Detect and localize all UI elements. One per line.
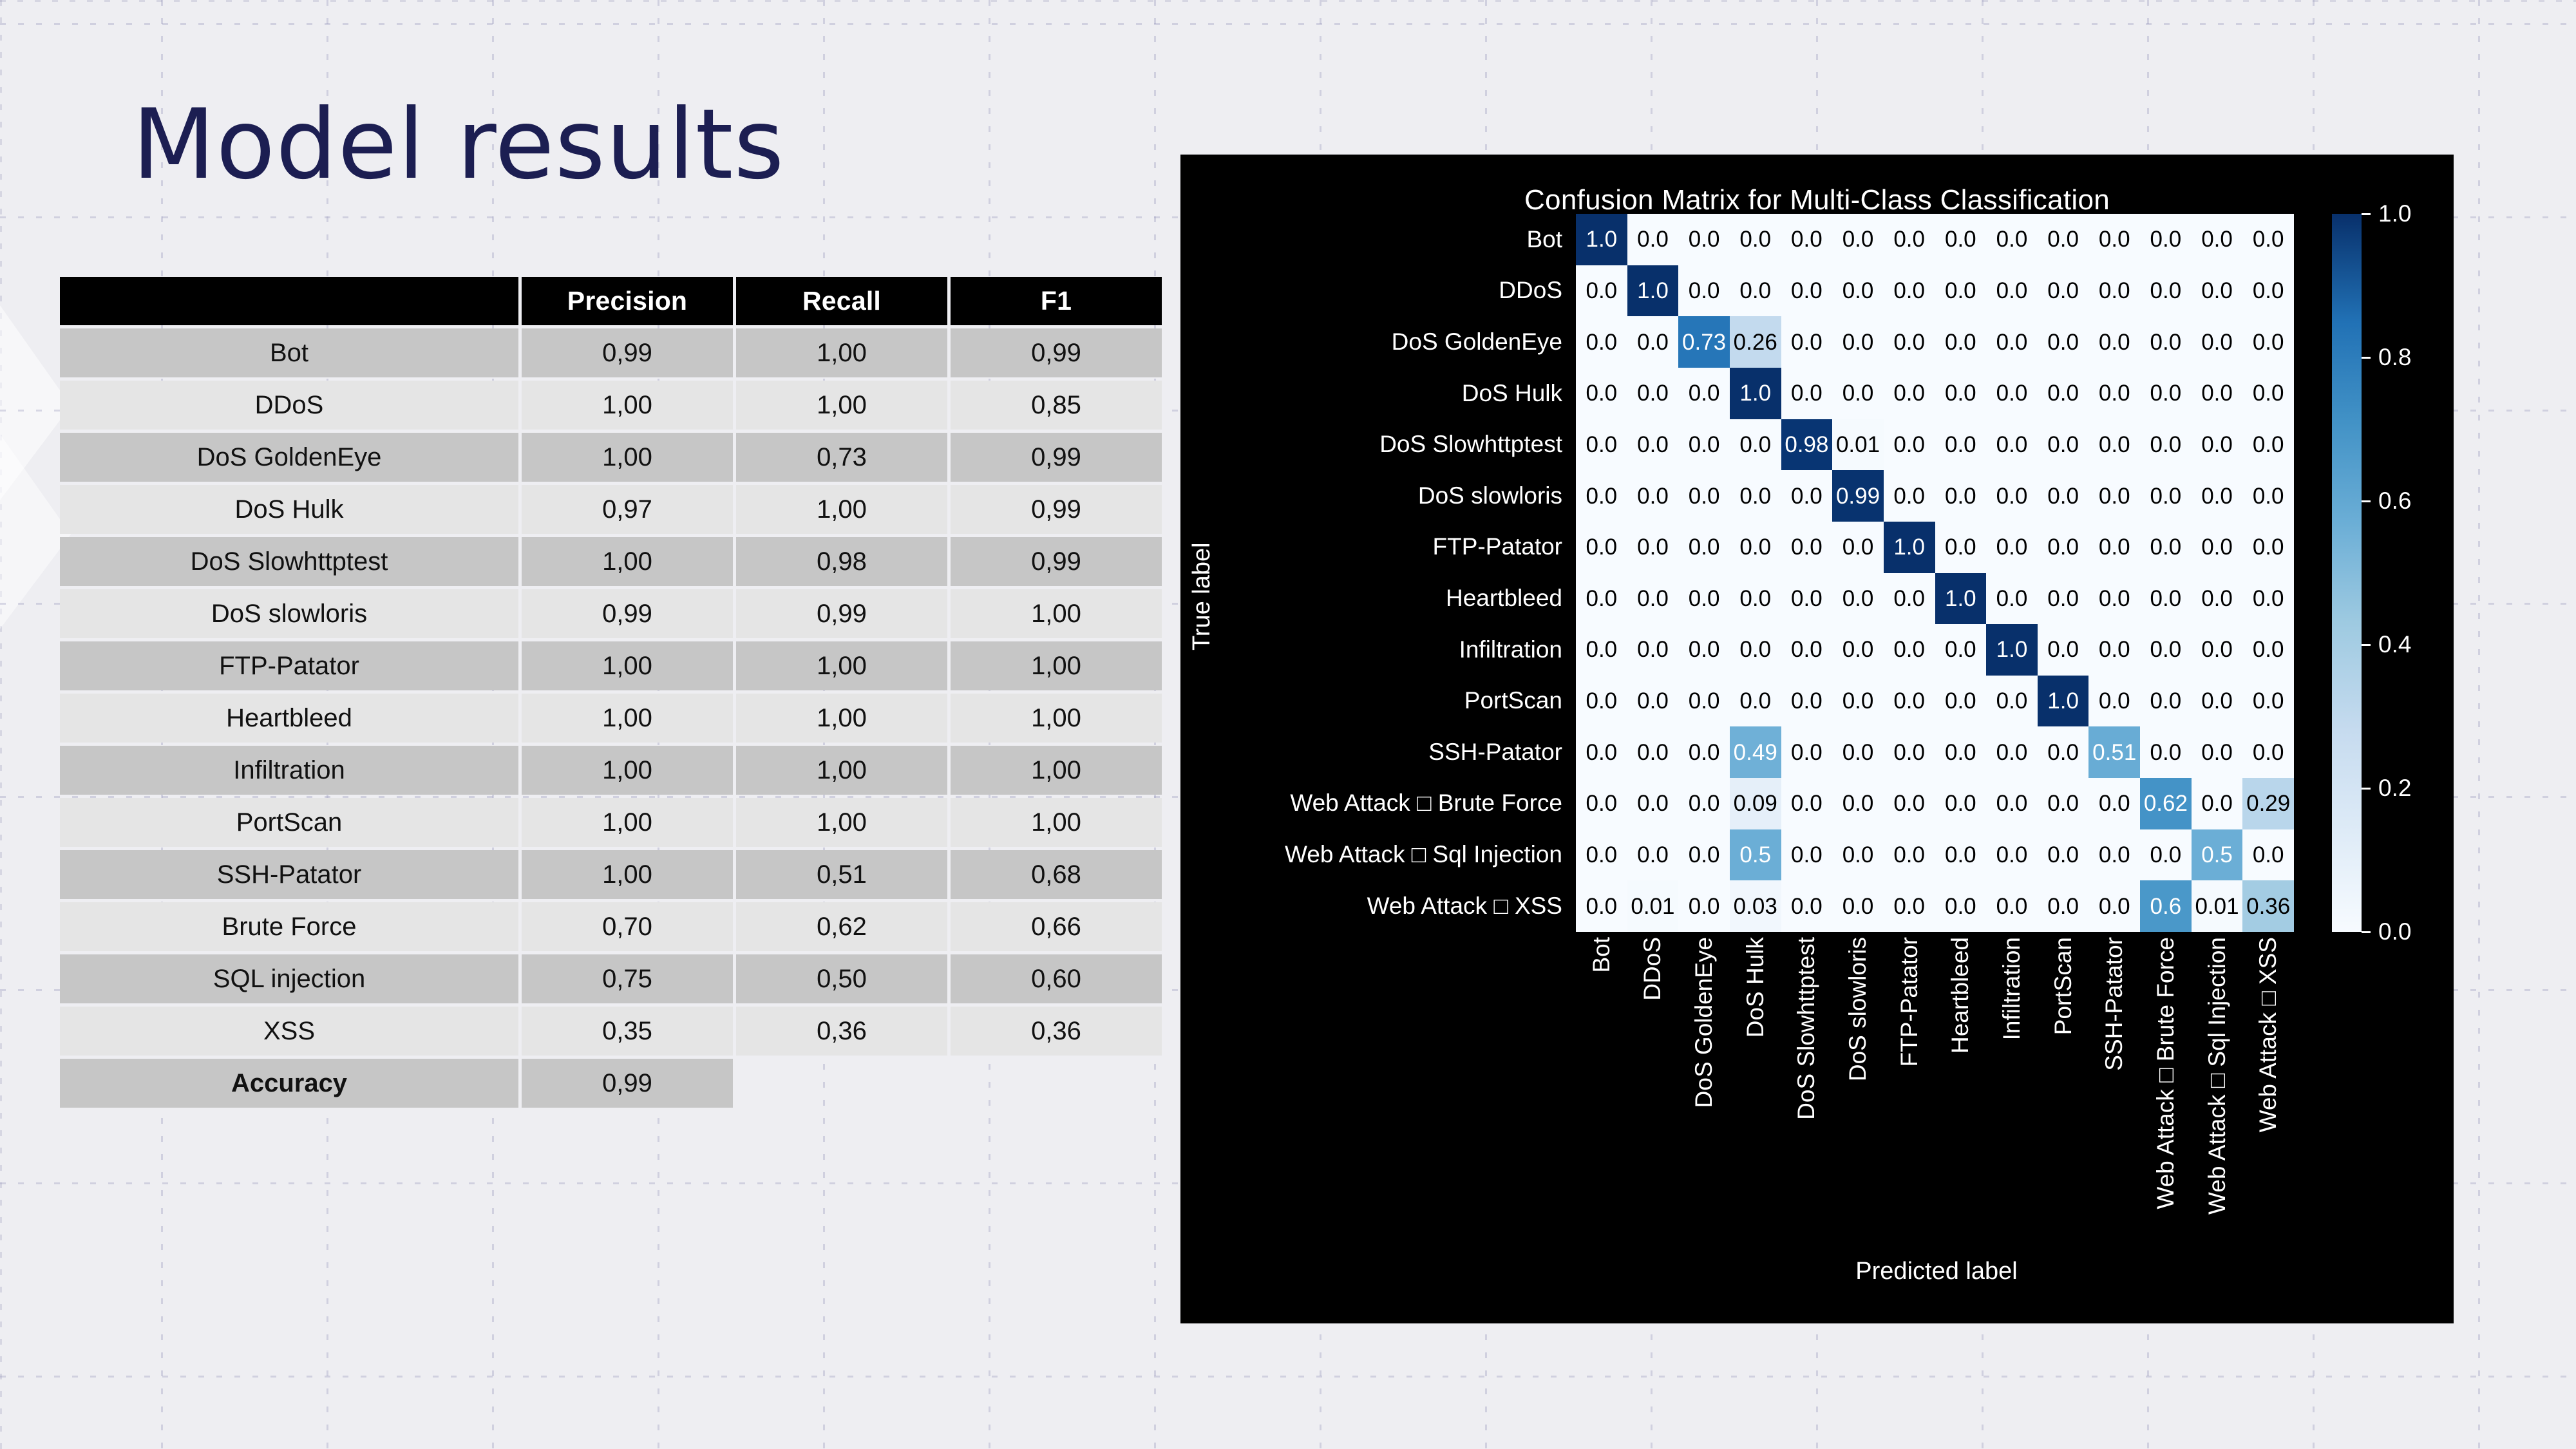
heatmap-cell: 0.0	[2192, 214, 2243, 265]
heatmap-cell: 0.0	[2088, 214, 2140, 265]
heatmap-cell: 0.0	[1832, 829, 1884, 881]
x-tick-label-wrapper: Web Attack □ Brute Force	[2140, 937, 2192, 943]
heatmap-cell: 0.0	[2192, 419, 2243, 471]
x-tick-label-wrapper: PortScan	[2038, 937, 2089, 943]
cell-precision: 0,35	[522, 1007, 733, 1056]
cell-recall: 1,00	[736, 746, 947, 795]
heatmap-cell: 0.5	[2192, 829, 2243, 881]
x-tick-label: Web Attack □ Sql Injection	[2204, 937, 2231, 1215]
heatmap-cell: 0.0	[1627, 573, 1679, 625]
heatmap-cell: 0.0	[2038, 419, 2089, 471]
table-header-row: Precision Recall F1	[60, 277, 1162, 325]
heatmap-cell: 0.0	[1678, 829, 1730, 881]
colorbar-tick-mark	[2362, 644, 2371, 646]
heatmap-cell: 0.0	[2038, 778, 2089, 829]
x-tick-label: Infiltration	[1998, 937, 2025, 1040]
heatmap-cell: 0.0	[2192, 265, 2243, 317]
heatmap-cell: 0.0	[1678, 573, 1730, 625]
heatmap-cell: 0.0	[2242, 624, 2294, 676]
table-body: Bot0,991,000,99DDoS1,001,000,85DoS Golde…	[60, 328, 1162, 1108]
table-row: Brute Force0,700,620,66	[60, 902, 1162, 951]
heatmap-cell: 0.0	[1576, 316, 1627, 368]
cell-recall: 0,98	[736, 537, 947, 586]
table-row: DoS Hulk0,971,000,99	[60, 485, 1162, 534]
heatmap-cell: 0.0	[1832, 265, 1884, 317]
x-tick-label-wrapper: SSH-Patator	[2088, 937, 2140, 943]
heatmap-cell: 0.0	[1832, 880, 1884, 932]
cell-precision: 1,00	[522, 798, 733, 847]
heatmap-cell: 0.0	[1678, 880, 1730, 932]
heatmap-cell: 0.0	[2192, 573, 2243, 625]
cell-f1: 0,68	[951, 850, 1162, 899]
heatmap-cell: 0.0	[1627, 470, 1679, 522]
heatmap-cell: 0.0	[1730, 573, 1781, 625]
cell-recall: 0,51	[736, 850, 947, 899]
row-label: DoS slowloris	[60, 589, 518, 638]
heatmap-cell: 0.0	[1781, 316, 1833, 368]
heatmap-cell: 0.0	[2038, 573, 2089, 625]
heatmap-cell: 0.0	[1884, 573, 1935, 625]
heatmap-cell: 0.0	[1935, 829, 1987, 881]
heatmap-cell: 0.0	[1678, 470, 1730, 522]
heatmap-cell: 0.0	[2038, 624, 2089, 676]
heatmap-cell: 0.0	[2038, 726, 2089, 778]
colorbar-tick: 0.6	[2362, 488, 2411, 515]
cell-recall: 1,00	[736, 694, 947, 743]
heatmap-cell: 0.0	[1935, 214, 1987, 265]
heatmap-cell: 0.0	[1627, 316, 1679, 368]
x-tick-label-wrapper: DoS Hulk	[1730, 937, 1781, 943]
y-tick-label: SSH-Patator	[1219, 726, 1570, 778]
cell-f1: 0,99	[951, 537, 1162, 586]
x-tick-label: DoS Slowhttptest	[1793, 937, 1820, 1120]
heatmap-cell: 0.29	[2242, 778, 2294, 829]
heatmap-cell: 0.0	[2038, 470, 2089, 522]
heatmap-cell: 0.0	[1627, 522, 1679, 573]
heatmap-cell: 0.0	[1884, 676, 1935, 727]
heatmap-cell: 0.0	[2192, 624, 2243, 676]
heatmap-cell: 0.0	[1884, 470, 1935, 522]
heatmap-cell: 0.0	[1576, 265, 1627, 317]
colorbar-tick: 1.0	[2362, 200, 2411, 227]
table-row: SQL injection0,750,500,60	[60, 954, 1162, 1003]
heatmap-cell: 0.0	[1576, 573, 1627, 625]
y-tick-label: Infiltration	[1219, 624, 1570, 676]
cell-precision: 0,99	[522, 589, 733, 638]
cell-recall: 1,00	[736, 798, 947, 847]
heatmap-cell: 0.0	[1627, 368, 1679, 419]
column-header-recall: Recall	[736, 277, 947, 325]
heatmap-cell: 0.0	[1986, 419, 2038, 471]
heatmap-cell: 0.0	[2088, 265, 2140, 317]
heatmap-cell: 0.0	[1576, 829, 1627, 881]
heatmap-cell: 0.0	[1832, 368, 1884, 419]
cell-precision: 1,00	[522, 381, 733, 430]
cell-precision: 1,00	[522, 433, 733, 482]
heatmap-cell: 1.0	[1884, 522, 1935, 573]
colorbar-tick-mark	[2362, 500, 2371, 502]
x-tick-label: Heartbleed	[1947, 937, 1974, 1054]
heatmap-cell: 0.0	[1730, 470, 1781, 522]
x-tick-label: PortScan	[2050, 937, 2077, 1035]
column-header-precision: Precision	[522, 277, 733, 325]
heatmap-cell: 0.0	[1781, 829, 1833, 881]
cell-f1: 0,99	[951, 328, 1162, 377]
heatmap-cell: 0.0	[2088, 573, 2140, 625]
heatmap-cell: 0.0	[2192, 522, 2243, 573]
heatmap-cell: 1.0	[2038, 676, 2089, 727]
y-tick-label: DoS Hulk	[1219, 368, 1570, 419]
heatmap-cell: 0.0	[1576, 522, 1627, 573]
heatmap-cell: 0.0	[2242, 214, 2294, 265]
row-label: SSH-Patator	[60, 850, 518, 899]
heatmap-cell: 0.62	[2140, 778, 2192, 829]
colorbar-tick-text: 0.0	[2378, 918, 2411, 945]
heatmap-cell: 1.0	[1986, 624, 2038, 676]
table-row: FTP-Patator1,001,001,00	[60, 641, 1162, 690]
heatmap-cell: 0.0	[1781, 470, 1833, 522]
heatmap-cell: 0.0	[1627, 829, 1679, 881]
y-tick-label: DoS slowloris	[1219, 470, 1570, 522]
heatmap-cell: 0.0	[2088, 368, 2140, 419]
cell-precision: 1,00	[522, 694, 733, 743]
heatmap-cell: 0.0	[2038, 829, 2089, 881]
heatmap-cell: 0.0	[1678, 778, 1730, 829]
colorbar-tick-labels: 0.00.20.40.60.81.0	[2362, 214, 2454, 932]
heatmap-cell: 0.0	[1884, 778, 1935, 829]
y-tick-label: Web Attack □ Sql Injection	[1219, 829, 1570, 880]
y-axis-tick-labels: BotDDoSDoS GoldenEyeDoS HulkDoS Slowhttp…	[1219, 214, 1570, 931]
heatmap-cell: 0.0	[1986, 880, 2038, 932]
heatmap-cell: 0.0	[1576, 676, 1627, 727]
heatmap-cell: 0.0	[1781, 214, 1833, 265]
heatmap-cell: 0.0	[2242, 829, 2294, 881]
heatmap-cell: 0.0	[1576, 778, 1627, 829]
heatmap-cell: 0.0	[2140, 624, 2192, 676]
heatmap-cell: 0.6	[2140, 880, 2192, 932]
heatmap-cell: 0.0	[1576, 470, 1627, 522]
heatmap-cell: 0.0	[1730, 419, 1781, 471]
empty-cell	[951, 1059, 1162, 1108]
heatmap-cell: 0.0	[2088, 316, 2140, 368]
heatmap-cell: 0.0	[1576, 419, 1627, 471]
heatmap-cell: 0.0	[1627, 214, 1679, 265]
cell-precision: 0,70	[522, 902, 733, 951]
heatmap-cell: 0.0	[2192, 316, 2243, 368]
table-row: DDoS1,001,000,85	[60, 381, 1162, 430]
heatmap-cell: 0.0	[2038, 214, 2089, 265]
cell-f1: 0,99	[951, 433, 1162, 482]
x-tick-label: FTP-Patator	[1896, 937, 1923, 1067]
heatmap-cell: 0.0	[1935, 778, 1987, 829]
heatmap-cell: 0.0	[1781, 265, 1833, 317]
x-tick-label: DoS Hulk	[1742, 937, 1769, 1037]
heatmap-cell: 0.0	[1986, 522, 2038, 573]
y-tick-label: DDoS	[1219, 265, 1570, 317]
heatmap-cell: 0.0	[1678, 522, 1730, 573]
heatmap-cell: 0.0	[1884, 726, 1935, 778]
y-tick-label: PortScan	[1219, 675, 1570, 726]
heatmap-cell: 0.0	[1627, 726, 1679, 778]
cell-precision: 1,00	[522, 641, 733, 690]
heatmap-grid: 1.00.00.00.00.00.00.00.00.00.00.00.00.00…	[1576, 214, 2294, 932]
heatmap-cell: 0.0	[1832, 676, 1884, 727]
table-row-accuracy: Accuracy0,99	[60, 1059, 1162, 1108]
heatmap-cell: 0.0	[2192, 368, 2243, 419]
heatmap-cell: 0.0	[1832, 726, 1884, 778]
heatmap-cell: 0.0	[1935, 880, 1987, 932]
x-tick-label: DoS GoldenEye	[1690, 937, 1718, 1108]
heatmap-cell: 0.0	[2038, 265, 2089, 317]
heatmap-cell: 0.0	[1678, 265, 1730, 317]
x-tick-label-wrapper: FTP-Patator	[1884, 937, 1935, 943]
heatmap-cell: 0.0	[1627, 624, 1679, 676]
confusion-matrix-panel: Confusion Matrix for Multi-Class Classif…	[1180, 155, 2454, 1323]
heatmap-cell: 0.0	[2242, 676, 2294, 727]
heatmap-cell: 1.0	[1730, 368, 1781, 419]
cell-f1: 0,85	[951, 381, 1162, 430]
heatmap-cell: 0.0	[1832, 522, 1884, 573]
x-tick-label-wrapper: DDoS	[1627, 937, 1679, 943]
heatmap-cell: 0.0	[1678, 214, 1730, 265]
heatmap-cell: 0.0	[1986, 470, 2038, 522]
colorbar-tick-text: 0.2	[2378, 775, 2411, 802]
heatmap-cell: 1.0	[1576, 214, 1627, 265]
heatmap-cell: 0.0	[2088, 522, 2140, 573]
heatmap-cell: 0.0	[2242, 522, 2294, 573]
heatmap-cell: 0.51	[2088, 726, 2140, 778]
cell-f1: 0,99	[951, 485, 1162, 534]
heatmap-cell: 0.73	[1678, 316, 1730, 368]
heatmap-cell: 0.0	[1935, 522, 1987, 573]
heatmap-cell: 1.0	[1935, 573, 1987, 625]
heatmap-cell: 0.0	[2088, 829, 2140, 881]
heatmap-cell: 0.0	[1781, 522, 1833, 573]
heatmap-cell: 0.0	[1986, 368, 2038, 419]
heatmap-cell: 0.0	[2038, 368, 2089, 419]
accuracy-value: 0,99	[522, 1059, 733, 1108]
heatmap-cell: 0.0	[1576, 624, 1627, 676]
row-label: FTP-Patator	[60, 641, 518, 690]
heatmap-cell: 0.0	[2038, 316, 2089, 368]
cell-recall: 1,00	[736, 641, 947, 690]
x-tick-label-wrapper: Bot	[1576, 937, 1627, 943]
cell-precision: 0,75	[522, 954, 733, 1003]
x-tick-label: DoS slowloris	[1844, 937, 1871, 1081]
x-tick-label-wrapper: Infiltration	[1986, 937, 2038, 943]
heatmap-cell: 0.0	[1986, 726, 2038, 778]
heatmap-cell: 0.0	[2140, 368, 2192, 419]
table-row: DoS Slowhttptest1,000,980,99	[60, 537, 1162, 586]
heatmap-cell: 0.0	[2192, 676, 2243, 727]
heatmap-cell: 0.0	[1832, 214, 1884, 265]
heatmap-cell: 1.0	[1627, 265, 1679, 317]
x-tick-label: Bot	[1588, 937, 1615, 973]
heatmap-cell: 0.0	[1935, 419, 1987, 471]
table-row: Infiltration1,001,001,00	[60, 746, 1162, 795]
column-header-class	[60, 277, 518, 325]
heatmap-cell: 0.0	[1627, 778, 1679, 829]
colorbar-gradient	[2332, 214, 2362, 932]
x-tick-label-wrapper: DoS Slowhttptest	[1781, 937, 1833, 943]
x-tick-label-wrapper: Web Attack □ Sql Injection	[2192, 937, 2243, 943]
cell-f1: 0,60	[951, 954, 1162, 1003]
heatmap-cell: 0.0	[1781, 726, 1833, 778]
heatmap-cell: 0.0	[1986, 676, 2038, 727]
heatmap-cell: 0.0	[2088, 624, 2140, 676]
heatmap-cell: 0.0	[1884, 316, 1935, 368]
heatmap-cell: 0.0	[2140, 829, 2192, 881]
heatmap-cell: 0.0	[2242, 265, 2294, 317]
empty-cell	[736, 1059, 947, 1108]
heatmap-cell: 0.0	[1884, 214, 1935, 265]
heatmap-cell: 0.0	[1884, 419, 1935, 471]
heatmap-cell: 0.0	[2242, 368, 2294, 419]
table-row: DoS slowloris0,990,991,00	[60, 589, 1162, 638]
heatmap-cell: 0.0	[1935, 470, 1987, 522]
heatmap-cell: 0.0	[1576, 726, 1627, 778]
row-label: Infiltration	[60, 746, 518, 795]
cell-f1: 1,00	[951, 798, 1162, 847]
heatmap-cell: 0.0	[1678, 368, 1730, 419]
cell-f1: 0,66	[951, 902, 1162, 951]
heatmap-cell: 0.0	[2242, 573, 2294, 625]
x-tick-label-wrapper: Heartbleed	[1935, 937, 1987, 943]
heatmap-cell: 0.0	[1678, 726, 1730, 778]
heatmap-cell: 0.0	[2242, 470, 2294, 522]
heatmap-cell: 0.0	[2192, 470, 2243, 522]
x-tick-label: Web Attack □ XSS	[2255, 937, 2282, 1132]
heatmap-cell: 0.0	[1884, 368, 1935, 419]
heatmap-cell: 0.0	[2038, 880, 2089, 932]
background-guideline	[0, 23, 2576, 25]
cell-precision: 0,99	[522, 328, 733, 377]
heatmap-cell: 0.0	[1832, 778, 1884, 829]
heatmap-cell: 0.0	[1986, 573, 2038, 625]
heatmap-cell: 0.0	[1935, 368, 1987, 419]
cell-recall: 0,99	[736, 589, 947, 638]
cell-f1: 1,00	[951, 641, 1162, 690]
cell-precision: 0,97	[522, 485, 733, 534]
y-tick-label: Web Attack □ XSS	[1219, 880, 1570, 932]
row-label: Heartbleed	[60, 694, 518, 743]
heatmap-cell: 0.99	[1832, 470, 1884, 522]
row-label: DDoS	[60, 381, 518, 430]
row-label: DoS GoldenEye	[60, 433, 518, 482]
heatmap-cell: 0.0	[1935, 676, 1987, 727]
x-tick-label-wrapper: Web Attack □ XSS	[2242, 937, 2294, 943]
heatmap-cell: 0.0	[1935, 265, 1987, 317]
heatmap-cell: 0.0	[2140, 573, 2192, 625]
heatmap-cell: 0.0	[1576, 880, 1627, 932]
heatmap-cell: 0.0	[1781, 368, 1833, 419]
cell-precision: 1,00	[522, 746, 733, 795]
heatmap-cell: 0.0	[1730, 214, 1781, 265]
heatmap-cell: 0.0	[2242, 316, 2294, 368]
colorbar-tick-text: 1.0	[2378, 200, 2411, 227]
heatmap-cell: 0.0	[1884, 624, 1935, 676]
cell-f1: 1,00	[951, 589, 1162, 638]
accuracy-label: Accuracy	[60, 1059, 518, 1108]
heatmap-cell: 0.0	[2088, 470, 2140, 522]
heatmap-cell: 0.09	[1730, 778, 1781, 829]
heatmap-cell: 0.0	[1781, 676, 1833, 727]
x-tick-label-wrapper: DoS GoldenEye	[1678, 937, 1730, 943]
heatmap-cell: 0.0	[1832, 624, 1884, 676]
colorbar-tick-mark	[2362, 788, 2371, 790]
background-guideline	[0, 1376, 2576, 1378]
heatmap-cell: 0.0	[1730, 265, 1781, 317]
heatmap-cell: 0.0	[1730, 522, 1781, 573]
heatmap-cell: 0.49	[1730, 726, 1781, 778]
heatmap-cell: 0.0	[1935, 726, 1987, 778]
heatmap-cell: 0.0	[2088, 676, 2140, 727]
colorbar-tick-mark	[2362, 357, 2371, 359]
heatmap-cell: 0.0	[1832, 573, 1884, 625]
colorbar-tick: 0.2	[2362, 775, 2411, 802]
heatmap-cell: 0.0	[2140, 265, 2192, 317]
heatmap-cell: 0.0	[2088, 419, 2140, 471]
heatmap-cell: 0.0	[1627, 419, 1679, 471]
row-label: Bot	[60, 328, 518, 377]
row-label: DoS Slowhttptest	[60, 537, 518, 586]
heatmap-cell: 0.0	[2140, 726, 2192, 778]
heatmap-cell: 0.0	[1576, 368, 1627, 419]
cell-recall: 0,50	[736, 954, 947, 1003]
heatmap-cell: 0.0	[1730, 676, 1781, 727]
x-tick-label: DDoS	[1639, 937, 1666, 1001]
cell-recall: 0,36	[736, 1007, 947, 1056]
heatmap-cell: 0.0	[2242, 726, 2294, 778]
row-label: DoS Hulk	[60, 485, 518, 534]
heatmap-cell: 0.0	[1781, 880, 1833, 932]
table-row: DoS GoldenEye1,000,730,99	[60, 433, 1162, 482]
page-title: Model results	[132, 97, 785, 193]
row-label: Brute Force	[60, 902, 518, 951]
heatmap-cell: 0.0	[1781, 573, 1833, 625]
heatmap-cell: 0.0	[2140, 470, 2192, 522]
heatmap-cell: 0.0	[2140, 419, 2192, 471]
y-axis-label: True label	[1188, 542, 1216, 650]
heatmap-cell: 0.0	[1986, 214, 2038, 265]
x-tick-label: SSH-Patator	[2101, 937, 2128, 1071]
colorbar-tick-mark	[2362, 213, 2371, 215]
y-tick-label: Heartbleed	[1219, 573, 1570, 624]
heatmap-cell: 0.0	[1832, 316, 1884, 368]
cell-recall: 0,73	[736, 433, 947, 482]
table-row: Bot0,991,000,99	[60, 328, 1162, 377]
x-tick-label: Web Attack □ Brute Force	[2152, 937, 2179, 1209]
heatmap-cell: 0.0	[2140, 522, 2192, 573]
y-tick-label: Bot	[1219, 214, 1570, 265]
colorbar-tick-text: 0.4	[2378, 631, 2411, 658]
heatmap-cell: 0.0	[2140, 316, 2192, 368]
background-guideline	[2478, 0, 2480, 1449]
heatmap-cell: 0.0	[2192, 726, 2243, 778]
heatmap-cell: 0.0	[1678, 624, 1730, 676]
heatmap-cell: 0.0	[1781, 624, 1833, 676]
heatmap-cell: 0.0	[1678, 419, 1730, 471]
heatmap-cell: 0.0	[2088, 778, 2140, 829]
heatmap-cell: 0.0	[1986, 829, 2038, 881]
heatmap-cell: 0.36	[2242, 880, 2294, 932]
heatmap-cell: 0.0	[1935, 316, 1987, 368]
x-axis-label: Predicted label	[1576, 1258, 2297, 1285]
heatmap-cell: 0.0	[1678, 676, 1730, 727]
heatmap-cell: 0.0	[1730, 624, 1781, 676]
row-label: XSS	[60, 1007, 518, 1056]
cell-f1: 1,00	[951, 694, 1162, 743]
